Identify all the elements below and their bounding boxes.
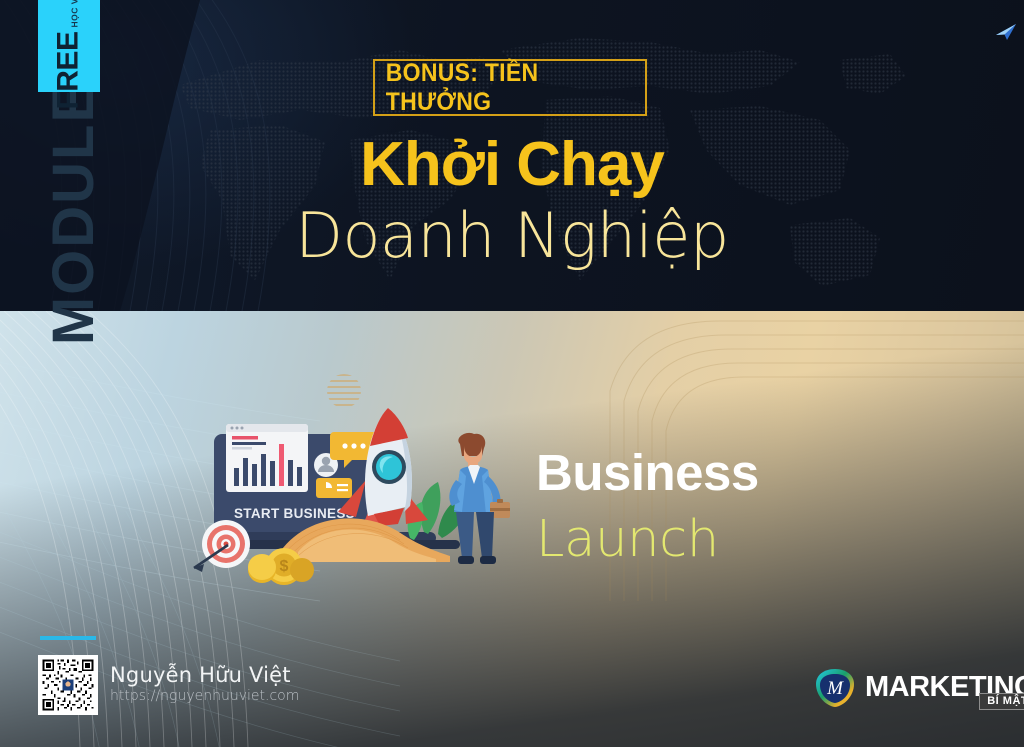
qr-code[interactable] <box>38 655 98 715</box>
author-url[interactable]: https://nguyenhuuviet.com <box>110 688 299 704</box>
paper-plane-icon <box>994 22 1018 42</box>
bonus-label: BONUS: TIỀN THƯỞNG <box>386 59 634 117</box>
business-launch-illustration: START BUSINESS <box>188 372 528 602</box>
brand-sub-label: BÍ MẬT <box>979 693 1024 710</box>
accent-divider <box>40 636 96 640</box>
page-title-line2: Doanh Nghiệp <box>0 205 1024 267</box>
svg-text:M: M <box>826 678 844 699</box>
free-badge[interactable]: FREE HỌC VIÊN <box>38 0 100 92</box>
free-badge-inner: FREE HỌC VIÊN <box>52 0 86 110</box>
laptop-caption: START BUSINESS <box>234 506 355 521</box>
page-title-line1: Khởi Chạy <box>0 134 1024 196</box>
brand-text: MARKETING BÍ MẬT <box>865 674 1024 702</box>
author-name: Nguyễn Hữu Việt <box>110 663 291 687</box>
brand-shield-icon: M <box>813 666 857 710</box>
bonus-badge[interactable]: BONUS: TIỀN THƯỞNG <box>373 59 647 116</box>
free-badge-sublabel: HỌC VIÊN <box>70 0 80 28</box>
rocket-illustration <box>365 408 412 526</box>
target-arrow-illustration <box>194 520 250 572</box>
svg-text:$: $ <box>280 558 289 575</box>
subject-subtitle: Launch <box>536 514 719 565</box>
free-badge-label: FREE <box>52 32 86 110</box>
brand-logo[interactable]: M MARKETING BÍ MẬT <box>813 666 1024 710</box>
poster-canvas: FREE HỌC VIÊN MODULE BONUS: TIỀN THƯỞNG … <box>0 0 1024 747</box>
subject-title: Business <box>536 447 759 498</box>
